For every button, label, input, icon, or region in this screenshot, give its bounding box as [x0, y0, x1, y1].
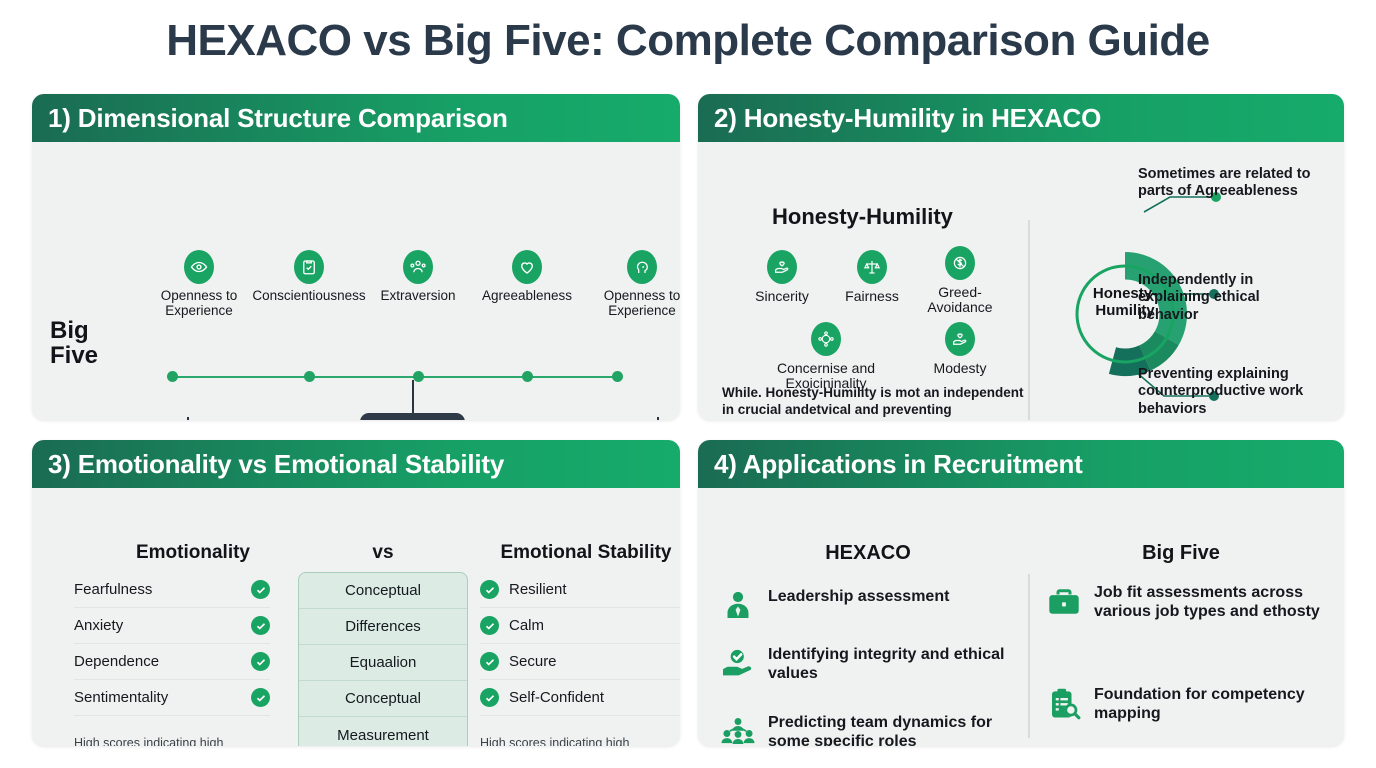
bigfive-node-label: Openness to Experience: [139, 288, 259, 318]
check-icon: [251, 688, 270, 707]
emotionality-item-label: Anxiety: [74, 617, 123, 634]
middle-item[interactable]: Measurement: [299, 717, 467, 746]
neuroticism-connector-top: [412, 380, 414, 414]
clipboard-search-icon: [1046, 686, 1082, 722]
emotionality-item-label: Fearfulness: [74, 581, 152, 598]
bigfive-node-openness-2[interactable]: Openness to Experience: [582, 250, 680, 318]
middle-item[interactable]: Conceptual: [299, 573, 467, 609]
panel4-col-header-hexaco: HEXACO: [718, 542, 1018, 565]
check-icon: [251, 652, 270, 671]
check-icon: [251, 580, 270, 599]
axis-dot: [167, 371, 178, 382]
bigfive-row-label: BigFive: [50, 318, 98, 368]
hexaco-application-integrity[interactable]: Identifying integrity and ethical values: [720, 646, 1010, 683]
emotionality-item-label: Dependence: [74, 653, 159, 670]
check-icon: [480, 580, 499, 599]
middle-item[interactable]: Conceptual: [299, 681, 467, 717]
bigfive-application-job-fit[interactable]: Job fit assessments across various job t…: [1046, 584, 1332, 621]
middle-item[interactable]: Equaalion: [299, 645, 467, 681]
list-item[interactable]: Calm: [480, 608, 680, 644]
list-item[interactable]: Sentimentality: [74, 680, 270, 716]
axis-dot: [612, 371, 623, 382]
panel2-note-3: Preventing explaining counterproductive …: [1138, 366, 1320, 418]
hexaco-application-leadership[interactable]: Leadership assessment: [720, 588, 1010, 624]
check-icon: [480, 616, 499, 635]
stability-item-label: Self-Confident: [509, 689, 604, 706]
stability-item-label: Resilient: [509, 581, 567, 598]
axis-dot: [304, 371, 315, 382]
list-item[interactable]: Self-Confident: [480, 680, 680, 716]
panel2-header-label: 2) Honesty-Humility in HEXACO: [714, 103, 1101, 134]
panel4-header-label: 4) Applications in Recruitment: [714, 449, 1083, 480]
hexaco-application-team-dynamics[interactable]: Predicting team dynamics for some specif…: [720, 714, 1010, 746]
panel3-footer-left: High scores indicating high emotionality: [74, 736, 274, 746]
check-icon: [251, 616, 270, 635]
panel-honesty-humility: 2) Honesty-Humility in HEXACO Honesty-Hu…: [698, 94, 1344, 420]
bigfive-node-agreeableness[interactable]: Agreeableness: [467, 250, 587, 303]
business-person-icon: [720, 588, 756, 624]
panel-applications-recruitment: 4) Applications in Recruitment HEXACO Bi…: [698, 440, 1344, 746]
application-label: Predicting team dynamics for some specif…: [768, 714, 1010, 746]
stability-item-label: Secure: [509, 653, 557, 670]
check-icon: [480, 652, 499, 671]
panel4-divider: [1028, 574, 1030, 738]
panel3-middle-column: Conceptual Differences Equaalion Concept…: [298, 572, 468, 746]
application-label: Identifying integrity and ethical values: [768, 646, 1010, 683]
head-profile-icon: [627, 250, 657, 284]
list-item[interactable]: Secure: [480, 644, 680, 680]
eye-icon: [184, 250, 214, 284]
axis-dot: [522, 371, 533, 382]
infographic-page: HEXACO vs Big Five: Complete Comparison …: [0, 0, 1376, 768]
axis-dot: [413, 371, 424, 382]
panel2-note-1: Sometimes are related to parts of Agreea…: [1138, 166, 1320, 201]
bigfive-node-label: Extraversion: [380, 288, 455, 303]
bigfive-application-competency-mapping[interactable]: Foundation for competency mapping: [1046, 686, 1332, 723]
neuroticism-cap-left: [187, 417, 189, 420]
bigfive-node-extraversion[interactable]: Extraversion: [358, 250, 478, 303]
check-icon: [480, 688, 499, 707]
panel3-col-header-left: Emotionality: [72, 542, 314, 564]
hand-check-icon: [720, 646, 756, 682]
panel2-note-2: Independently in explaining ethical beha…: [1138, 272, 1320, 324]
panel3-footer-right: High scores indicating high stability/lo…: [480, 736, 680, 746]
middle-item[interactable]: Differences: [299, 609, 467, 645]
panel3-header-label: 3) Emotionality vs Emotional Stability: [48, 449, 504, 480]
panel3-col-header-mid: vs: [298, 542, 468, 564]
neuroticism-cap-right: [657, 417, 659, 420]
bigfive-node-openness[interactable]: Openness to Experience: [139, 250, 259, 318]
panel3-header: 3) Emotionality vs Emotional Stability: [32, 440, 680, 488]
panel4-header: 4) Applications in Recruitment: [698, 440, 1344, 488]
heart-icon: [512, 250, 542, 284]
list-item[interactable]: Resilient: [480, 572, 680, 608]
people-group-icon: [403, 250, 433, 284]
bigfive-node-conscientiousness[interactable]: Conscientiousness: [249, 250, 369, 303]
neuroticism-pill[interactable]: Neuroticism: [360, 413, 465, 420]
team-icon: [720, 714, 756, 746]
list-item[interactable]: Fearfulness: [74, 572, 270, 608]
list-item[interactable]: Dependence: [74, 644, 270, 680]
bigfive-node-label: Agreeableness: [482, 288, 572, 303]
panel4-col-header-bigfive: Big Five: [1038, 542, 1324, 565]
bigfive-node-label: Conscientiousness: [252, 288, 365, 303]
page-title: HEXACO vs Big Five: Complete Comparison …: [0, 16, 1376, 66]
list-item[interactable]: Anxiety: [74, 608, 270, 644]
application-label: Foundation for competency mapping: [1094, 686, 1332, 723]
panel3-col-header-right: Emotional Stability: [468, 542, 680, 564]
application-label: Job fit assessments across various job t…: [1094, 584, 1332, 621]
panel-emotionality-vs-stability: 3) Emotionality vs Emotional Stability E…: [32, 440, 680, 746]
panel-dimensional-structure: 1) Dimensional Structure Comparison BigF…: [32, 94, 680, 420]
clipboard-check-icon: [294, 250, 324, 284]
panel2-header: 2) Honesty-Humility in HEXACO: [698, 94, 1344, 142]
application-label: Leadership assessment: [768, 588, 949, 607]
stability-item-label: Calm: [509, 617, 544, 634]
briefcase-icon: [1046, 584, 1082, 620]
bigfive-node-label: Openness to Experience: [582, 288, 680, 318]
panel1-header-label: 1) Dimensional Structure Comparison: [48, 103, 508, 134]
emotionality-item-label: Sentimentality: [74, 689, 168, 706]
panel1-header: 1) Dimensional Structure Comparison: [32, 94, 680, 142]
bigfive-axis-line: [172, 376, 617, 378]
